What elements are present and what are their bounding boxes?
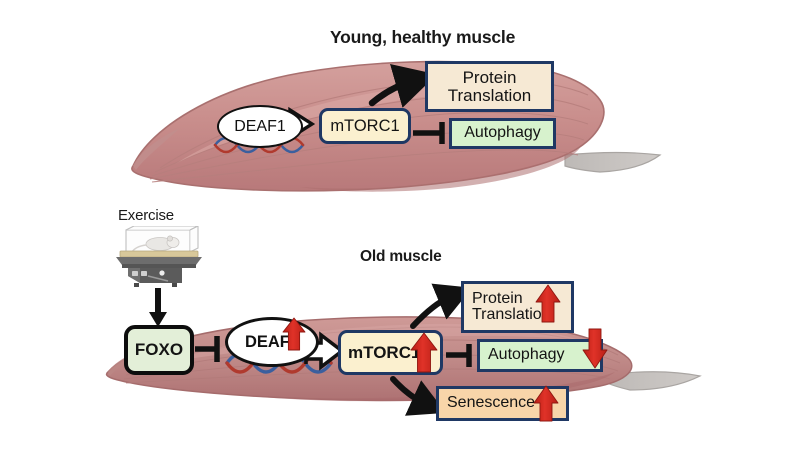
pathway-figure: Young, healthy muscle Old muscle Protein…: [0, 0, 800, 456]
red-down-arrow-autophagy: [583, 329, 607, 368]
red-up-arrow-mtorc1: [411, 333, 437, 372]
change-indicator-arrows: [0, 0, 800, 456]
red-up-arrow-senescence: [534, 386, 558, 421]
red-up-arrow-deaf1: [283, 318, 305, 350]
red-up-arrow-protein-translation: [536, 285, 560, 322]
